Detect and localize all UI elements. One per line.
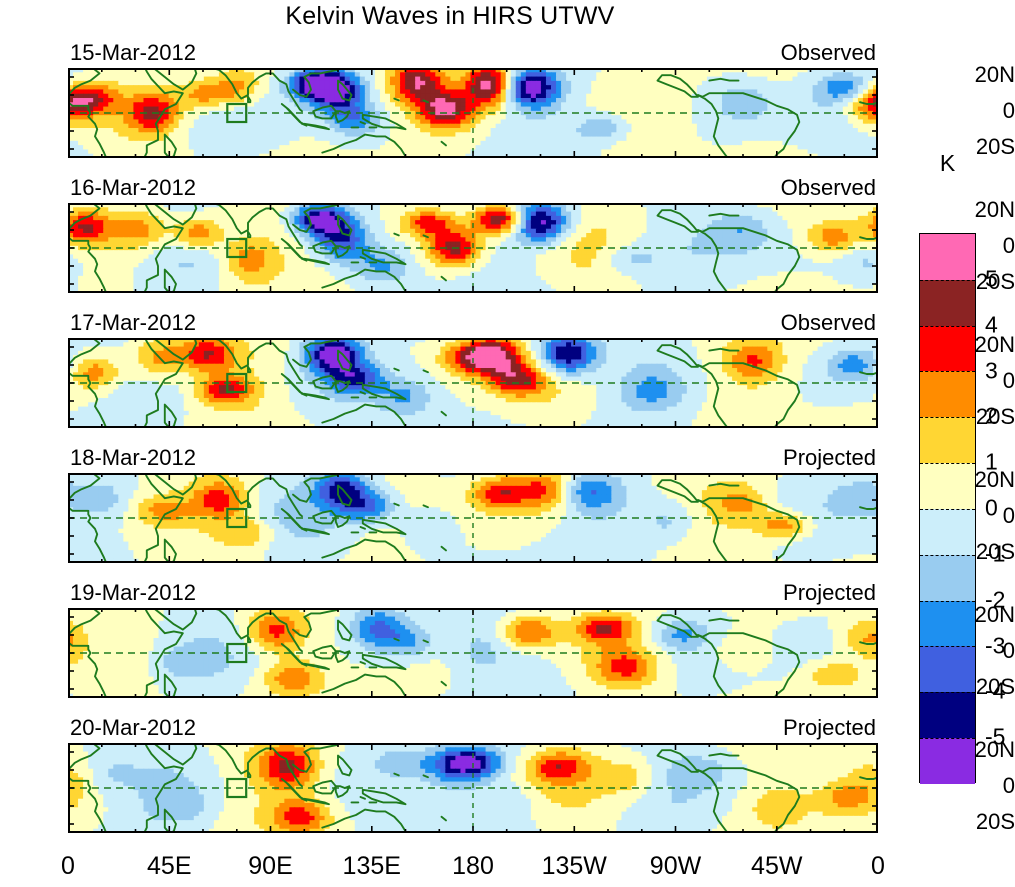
colorbar-band bbox=[920, 463, 975, 509]
map-panel[interactable] bbox=[68, 743, 878, 833]
y-axis-label: 20N bbox=[953, 197, 1015, 223]
colorbar-tick-label: -1 bbox=[985, 540, 1005, 567]
colorbar-band bbox=[920, 738, 975, 784]
x-axis-label: 135W bbox=[542, 852, 607, 881]
colorbar-unit-label: K bbox=[919, 150, 976, 177]
y-axis-label: 0 bbox=[953, 98, 1015, 124]
panel-date-label: 16-Mar-2012 bbox=[70, 175, 196, 201]
panel-frame bbox=[68, 743, 878, 833]
panel-date-label: 17-Mar-2012 bbox=[70, 310, 196, 336]
colorbar-tick-label: 4 bbox=[985, 311, 998, 338]
colorbar-band bbox=[920, 326, 975, 372]
panel-status-label: Projected bbox=[783, 715, 876, 741]
colorbar-band bbox=[920, 555, 975, 601]
map-panel[interactable] bbox=[68, 338, 878, 428]
colorbar[interactable] bbox=[919, 233, 976, 783]
x-axis-label: 0 bbox=[61, 852, 75, 881]
panel-frame bbox=[68, 473, 878, 563]
panel-date-label: 19-Mar-2012 bbox=[70, 580, 196, 606]
colorbar-band bbox=[920, 417, 975, 463]
panel-date-label: 18-Mar-2012 bbox=[70, 445, 196, 471]
x-axis-label: 90W bbox=[650, 852, 701, 881]
panel-status-label: Observed bbox=[781, 310, 876, 336]
page-title: Kelvin Waves in HIRS UTWV bbox=[0, 2, 900, 31]
colorbar-tick-label: -4 bbox=[985, 678, 1005, 705]
x-axis-label: 45W bbox=[751, 852, 802, 881]
colorbar-band bbox=[920, 509, 975, 555]
panel-frame bbox=[68, 203, 878, 293]
y-axis-label: 20N bbox=[953, 62, 1015, 88]
colorbar-band bbox=[920, 692, 975, 738]
colorbar-band bbox=[920, 646, 975, 692]
colorbar-tick-label: -2 bbox=[985, 586, 1005, 613]
map-panel[interactable] bbox=[68, 68, 878, 158]
colorbar-band bbox=[920, 280, 975, 326]
colorbar-tick-label: 1 bbox=[985, 449, 998, 476]
panel-date-label: 15-Mar-2012 bbox=[70, 40, 196, 66]
x-axis-label: 180 bbox=[452, 852, 494, 881]
panel-status-label: Observed bbox=[781, 40, 876, 66]
panel-date-label: 20-Mar-2012 bbox=[70, 715, 196, 741]
x-axis-label: 45E bbox=[147, 852, 191, 881]
x-axis-label: 90E bbox=[248, 852, 292, 881]
colorbar-band bbox=[920, 601, 975, 647]
colorbar-tick-label: -5 bbox=[985, 724, 1005, 751]
x-axis-label: 135E bbox=[343, 852, 401, 881]
colorbar-tick-label: 0 bbox=[985, 495, 998, 522]
map-panel[interactable] bbox=[68, 608, 878, 698]
x-axis-label: 0 bbox=[871, 852, 885, 881]
map-panel[interactable] bbox=[68, 473, 878, 563]
colorbar-band bbox=[920, 371, 975, 417]
colorbar-band bbox=[920, 234, 975, 280]
colorbar-tick-label: 2 bbox=[985, 403, 998, 430]
panel-status-label: Projected bbox=[783, 580, 876, 606]
panel-frame bbox=[68, 338, 878, 428]
y-axis-label: 20S bbox=[953, 809, 1015, 835]
colorbar-tick-label: 5 bbox=[985, 265, 998, 292]
panel-status-label: Observed bbox=[781, 175, 876, 201]
panel-frame bbox=[68, 608, 878, 698]
colorbar-tick-label: -3 bbox=[985, 632, 1005, 659]
colorbar-tick-label: 3 bbox=[985, 357, 998, 384]
map-panel[interactable] bbox=[68, 203, 878, 293]
panel-frame bbox=[68, 68, 878, 158]
panel-status-label: Projected bbox=[783, 445, 876, 471]
